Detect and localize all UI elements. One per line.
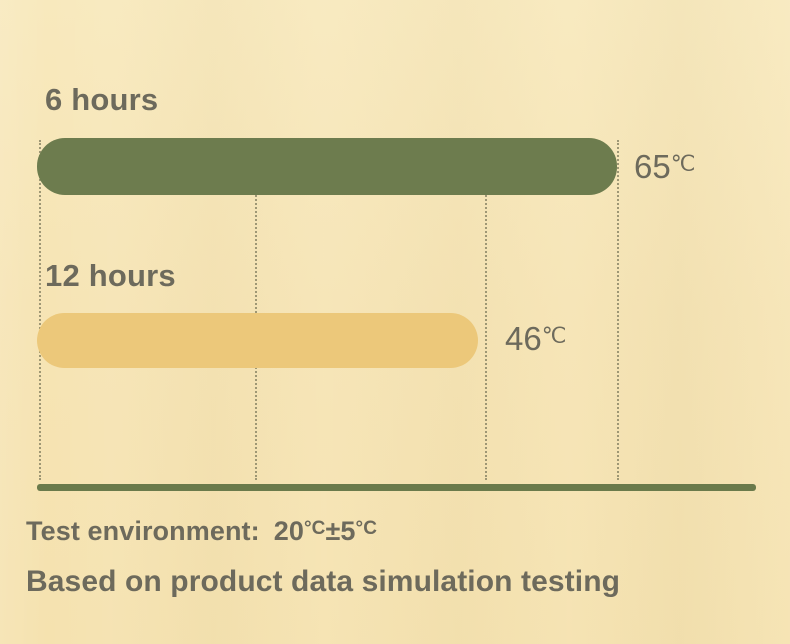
bar-label-12-hours: 12 hours [45, 258, 176, 294]
axis-baseline [37, 484, 756, 491]
gridline-1 [39, 140, 41, 480]
bar-6-hours [37, 138, 617, 195]
bar-value-6-hours: 65℃ [634, 148, 694, 186]
footnote-data-source: Based on product data simulation testing [26, 565, 620, 599]
bar-value-number-12-hours: 46 [505, 320, 542, 357]
degree-celsius-icon-env-1: °C [304, 518, 326, 539]
bar-12-hours [37, 313, 478, 368]
degree-celsius-icon-12-hours: ℃ [542, 323, 566, 348]
bar-value-12-hours: 46℃ [505, 320, 565, 358]
test-environment-value: 20 [274, 516, 304, 546]
test-environment-tolerance: ±5 [326, 516, 356, 546]
plot-area: 6 hours 65℃ 12 hours 46℃ [0, 0, 790, 500]
temperature-retention-chart: 6 hours 65℃ 12 hours 46℃ Test environmen… [0, 0, 790, 644]
footnote-test-environment: Test environment:20°C±5°C [26, 516, 377, 547]
degree-celsius-icon-6-hours: ℃ [671, 151, 695, 176]
gridline-4 [617, 140, 619, 480]
test-environment-label: Test environment: [26, 516, 260, 546]
bar-label-6-hours: 6 hours [45, 82, 158, 118]
degree-celsius-icon-env-2: °C [356, 518, 378, 539]
bar-value-number-6-hours: 65 [634, 148, 671, 185]
